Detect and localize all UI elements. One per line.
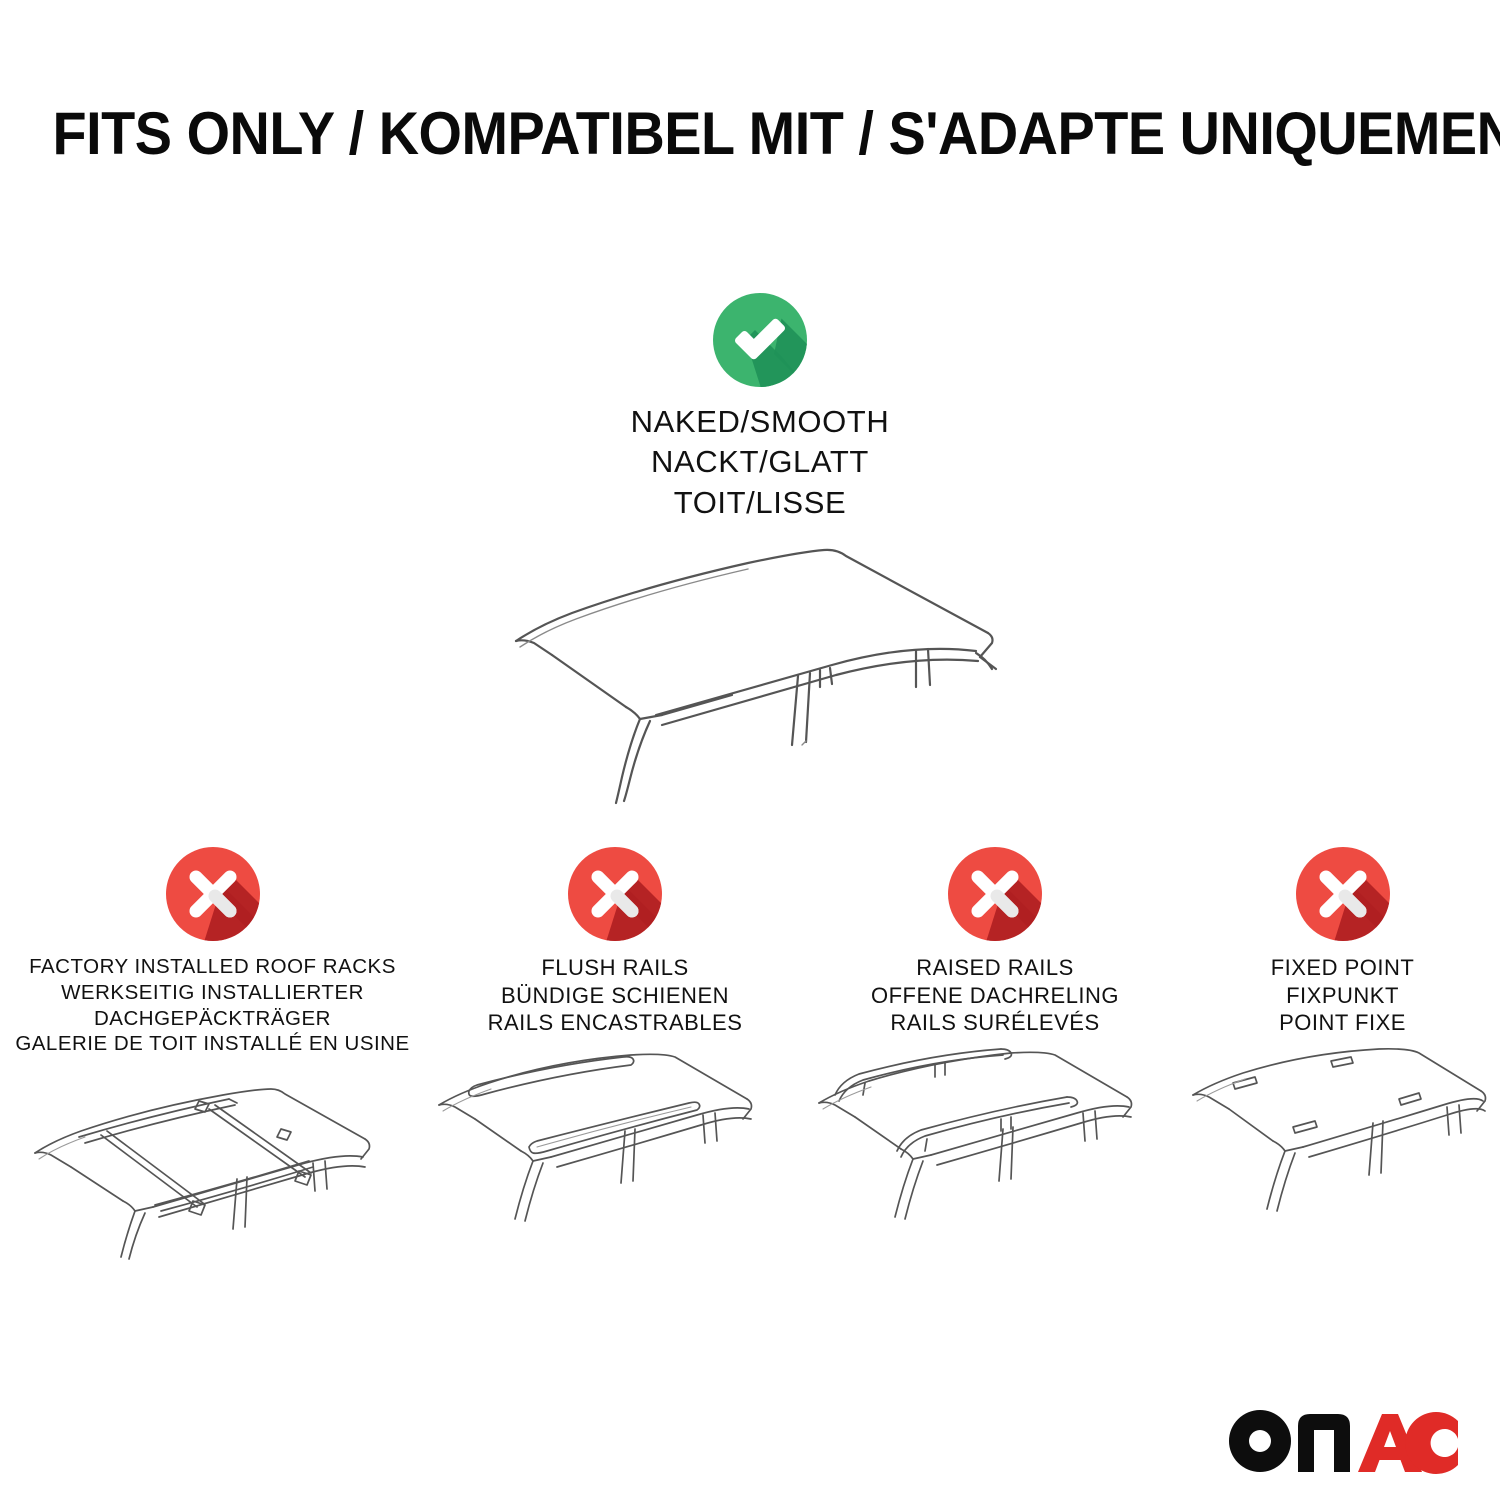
compatible-label-line-3: TOIT/LISSE (420, 483, 1100, 523)
x-circle-icon (947, 846, 1043, 942)
compatible-section: NAKED/SMOOTH NACKT/GLATT TOIT/LISSE (420, 292, 1100, 819)
incompatible-label-fixed-point: FIXED POINT FIXPUNKT POINT FIXE (1271, 954, 1415, 1037)
car-roof-raised-rails-illustration (805, 1047, 1185, 1257)
incompatible-label-flush-rails: FLUSH RAILS BÜNDIGE SCHIENEN RAILS ENCAS… (488, 954, 743, 1037)
compatible-label-line-1: NAKED/SMOOTH (420, 402, 1100, 442)
incompatible-label-raised-rails: RAISED RAILS OFFENE DACHRELING RAILS SUR… (871, 954, 1119, 1037)
car-roof-naked-smooth-illustration (480, 529, 1040, 819)
label-line-1: RAISED RAILS (871, 954, 1119, 982)
illustration-wrap-raised-rails (805, 1047, 1185, 1257)
compatible-badge-wrap (420, 292, 1100, 388)
car-roof-flush-rails-illustration (425, 1047, 805, 1257)
label-line-2: WERKSEITIG INSTALLIERTER (15, 980, 409, 1006)
check-circle-icon (712, 292, 808, 388)
x-circle-icon (567, 846, 663, 942)
compatible-label-line-2: NACKT/GLATT (420, 442, 1100, 482)
car-roof-with-factory-racks-illustration (13, 1067, 413, 1277)
incompatible-label-factory-installed-roof-racks: FACTORY INSTALLED ROOF RACKS WERKSEITIG … (15, 954, 409, 1057)
incompatible-item-raised-rails: RAISED RAILS OFFENE DACHRELING RAILS SUR… (805, 846, 1185, 1257)
incompatible-item-fixed-point: FIXED POINT FIXPUNKT POINT FIXE (1185, 846, 1500, 1257)
label-line-3: RAILS SURÉLEVÉS (871, 1009, 1119, 1037)
brand-logo: OMAC (1226, 1406, 1458, 1476)
incompatible-section: FACTORY INSTALLED ROOF RACKS WERKSEITIG … (0, 846, 1500, 1277)
label-line-4: GALERIE DE TOIT INSTALLÉ EN USINE (15, 1031, 409, 1057)
label-line-1: FIXED POINT (1271, 954, 1415, 982)
label-line-3: RAILS ENCASTRABLES (488, 1009, 743, 1037)
illustration-wrap-factory-racks (13, 1067, 413, 1277)
label-line-1: FACTORY INSTALLED ROOF RACKS (15, 954, 409, 980)
incompatible-item-factory-installed-roof-racks: FACTORY INSTALLED ROOF RACKS WERKSEITIG … (0, 846, 425, 1277)
x-circle-icon (1295, 846, 1391, 942)
incompatible-item-flush-rails: FLUSH RAILS BÜNDIGE SCHIENEN RAILS ENCAS… (425, 846, 805, 1257)
compatible-label: NAKED/SMOOTH NACKT/GLATT TOIT/LISSE (420, 402, 1100, 523)
car-roof-fixed-point-illustration (1183, 1047, 1500, 1257)
label-line-1: FLUSH RAILS (488, 954, 743, 982)
illustration-wrap-flush-rails (425, 1047, 805, 1257)
compatible-illustration-wrap (420, 529, 1100, 819)
label-line-2: BÜNDIGE SCHIENEN (488, 982, 743, 1010)
label-line-2: OFFENE DACHRELING (871, 982, 1119, 1010)
illustration-wrap-fixed-point (1183, 1047, 1500, 1257)
label-line-3: DACHGEPÄCKTRÄGER (15, 1006, 409, 1032)
label-line-2: FIXPUNKT (1271, 982, 1415, 1010)
label-line-3: POINT FIXE (1271, 1009, 1415, 1037)
omac-logo-icon (1226, 1406, 1458, 1476)
x-circle-icon (165, 846, 261, 942)
page-title: FITS ONLY / KOMPATIBEL MIT / S'ADAPTE UN… (53, 104, 1448, 164)
